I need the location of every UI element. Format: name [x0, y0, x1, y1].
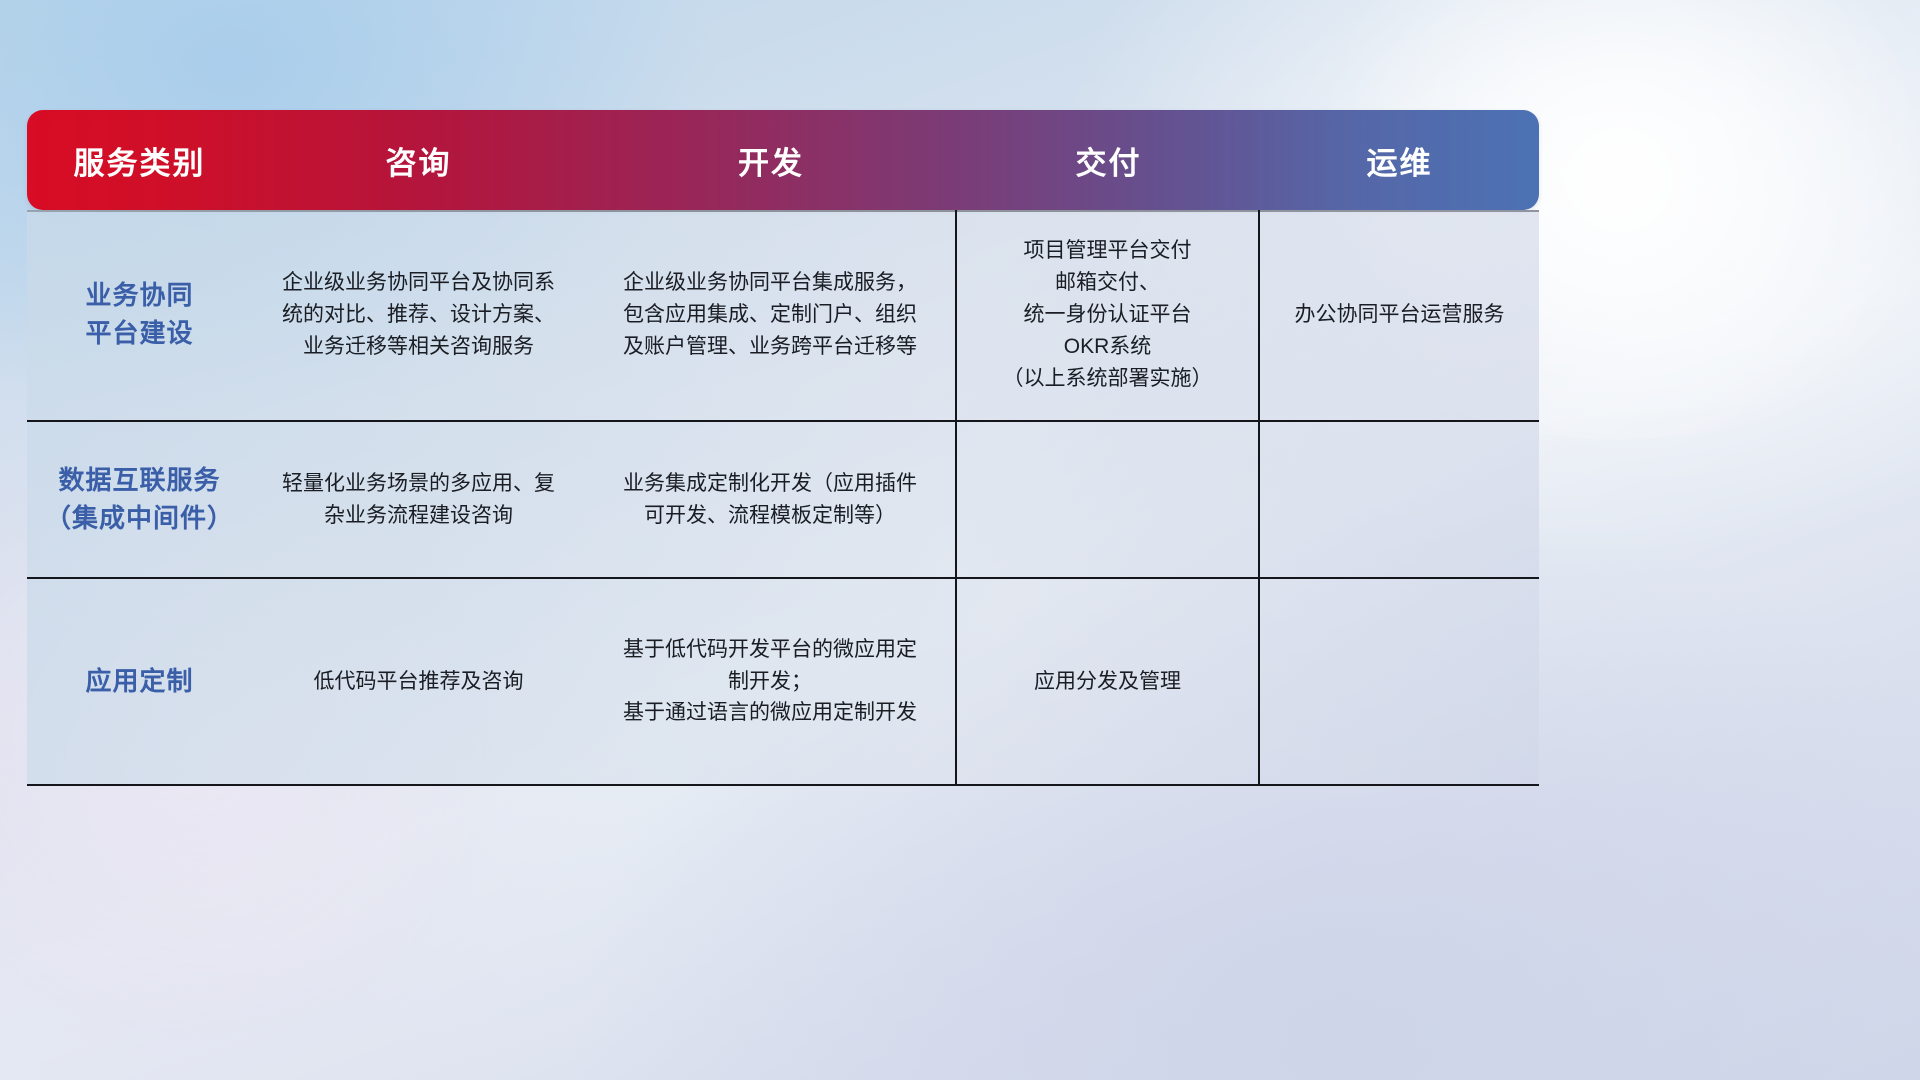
column-header-consulting: 咨询 [252, 138, 585, 183]
cell-consulting-row2: 轻量化业务场景的多应用、复 杂业务流程建设咨询 [252, 422, 585, 577]
table-row: 应用定制 低代码平台推荐及咨询 基于低代码开发平台的微应用定 制开发； 基于通过… [27, 579, 1539, 786]
table-row: 业务协同 平台建设 企业级业务协同平台及协同系 统的对比、推荐、设计方案、 业务… [27, 210, 1539, 422]
cell-consulting-row1: 企业级业务协同平台及协同系 统的对比、推荐、设计方案、 业务迁移等相关咨询服务 [252, 210, 585, 420]
cell-consulting-row3: 低代码平台推荐及咨询 [252, 579, 585, 784]
cell-delivery-row1: 项目管理平台交付 邮箱交付、 统一身份认证平台 OKR系统 （以上系统部署实施） [957, 210, 1260, 420]
column-header-operations: 运维 [1260, 138, 1539, 183]
table-body: 业务协同 平台建设 企业级业务协同平台及协同系 统的对比、推荐、设计方案、 业务… [27, 210, 1539, 786]
column-header-category: 服务类别 [27, 138, 252, 183]
cell-operations-row3 [1260, 579, 1539, 784]
column-header-development: 开发 [585, 138, 957, 183]
cell-development-row2: 业务集成定制化开发（应用插件 可开发、流程模板定制等） [585, 422, 957, 577]
cell-development-row1: 企业级业务协同平台集成服务， 包含应用集成、定制门户、组织 及账户管理、业务跨平… [585, 210, 957, 420]
cell-operations-row1: 办公协同平台运营服务 [1260, 210, 1539, 420]
cell-delivery-row3: 应用分发及管理 [957, 579, 1260, 784]
table-row: 数据互联服务 （集成中间件） 轻量化业务场景的多应用、复 杂业务流程建设咨询 业… [27, 422, 1539, 579]
column-header-delivery: 交付 [957, 138, 1260, 183]
row-label-app-customization: 应用定制 [27, 579, 252, 784]
row-label-business-collaboration: 业务协同 平台建设 [27, 210, 252, 420]
cell-operations-row2 [1260, 422, 1539, 577]
cell-development-row3: 基于低代码开发平台的微应用定 制开发； 基于通过语言的微应用定制开发 [585, 579, 957, 784]
service-matrix-table: 服务类别 咨询 开发 交付 运维 业务协同 平台建设 企业级业务协同平台及协同系… [27, 110, 1539, 775]
row-label-data-interconnect: 数据互联服务 （集成中间件） [27, 422, 252, 577]
cell-delivery-row2 [957, 422, 1260, 577]
table-header-row: 服务类别 咨询 开发 交付 运维 [27, 110, 1539, 210]
